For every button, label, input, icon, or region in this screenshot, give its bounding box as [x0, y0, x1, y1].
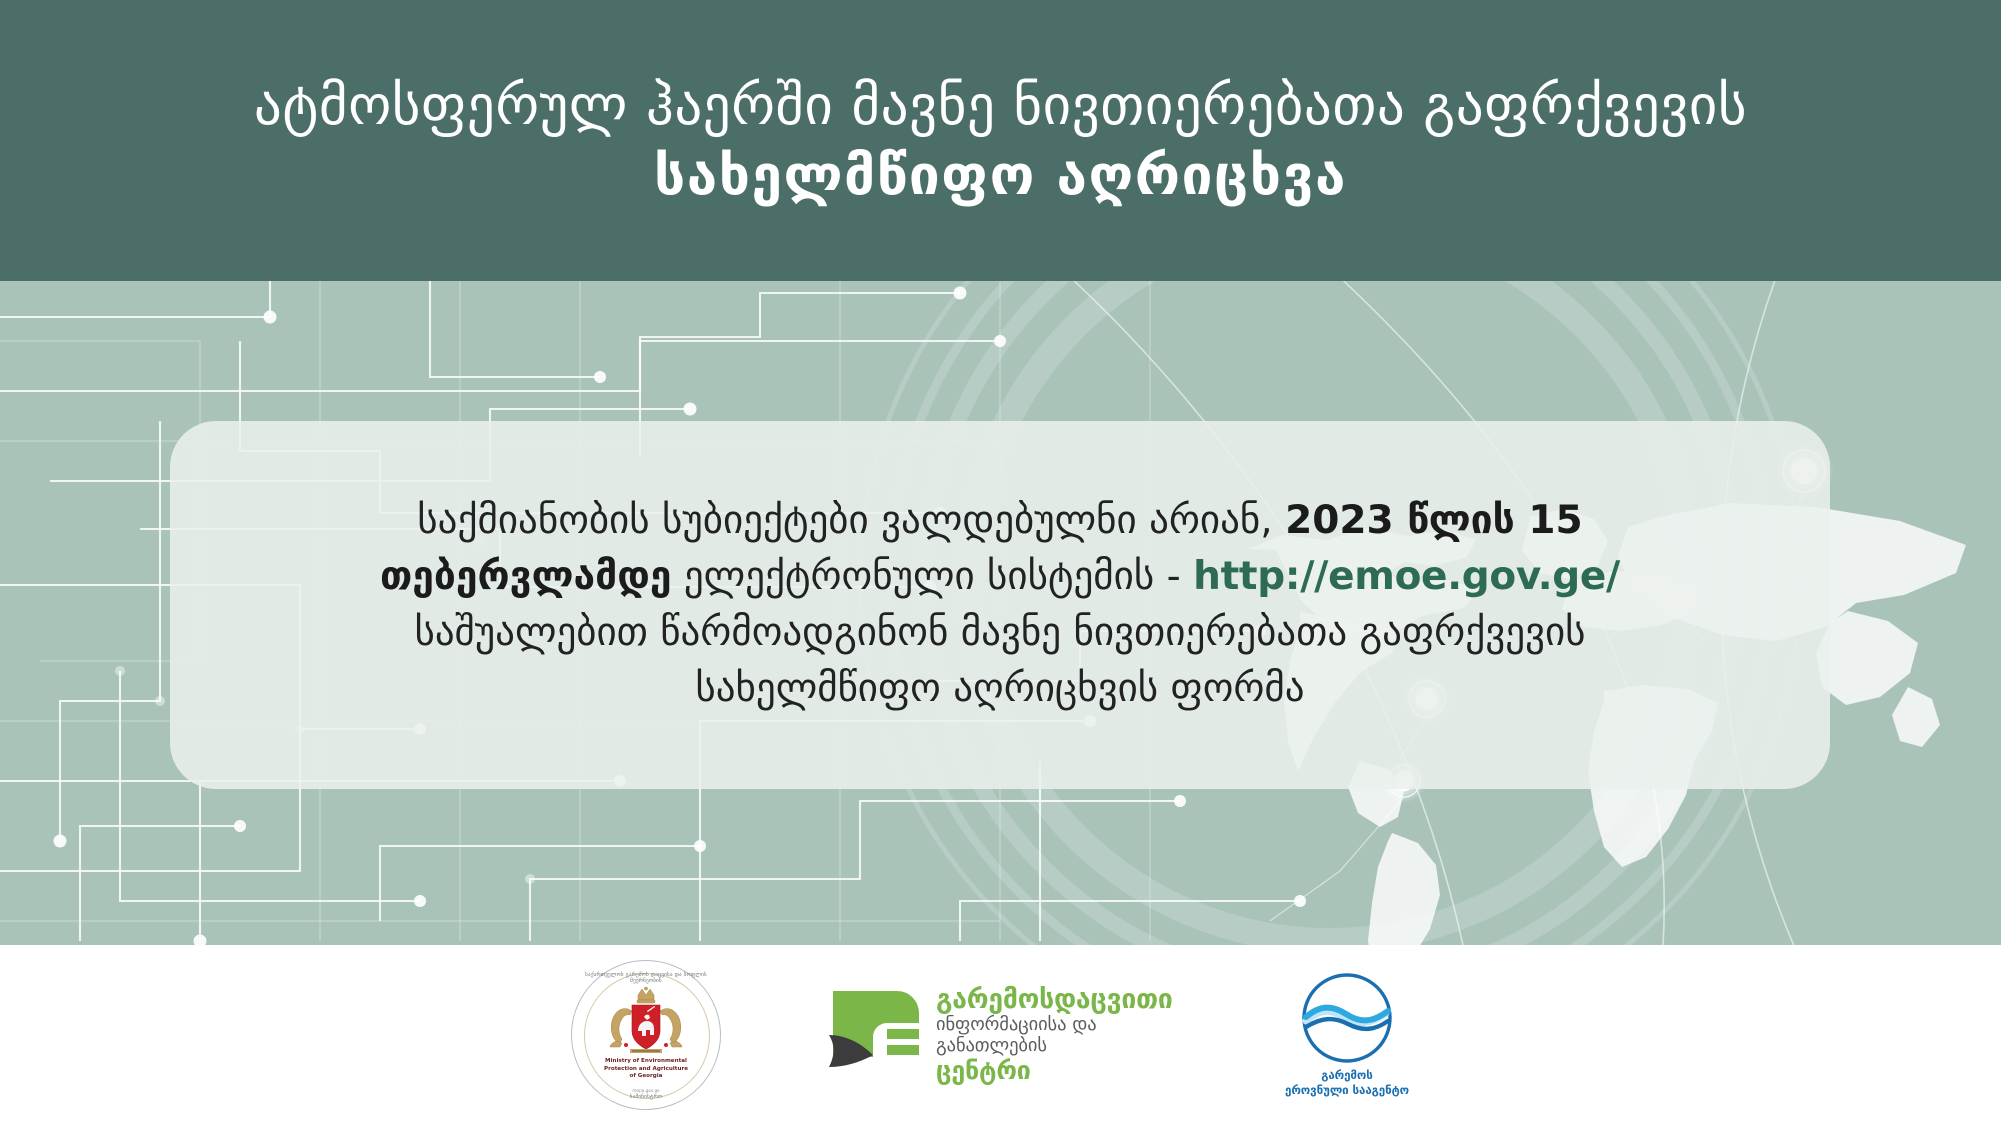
seal-georgian-bottom-text: სამინისტრო: [571, 1094, 721, 1100]
georgian-coat-of-arms-icon: [598, 987, 694, 1057]
announcement-line-4: სახელმწიფო აღრიცხვის ფორმა: [380, 661, 1620, 717]
announcement-line-2: თებერვლამდე ელექტრონული სისტემის - http:…: [380, 549, 1620, 605]
seal-english-line-2: Protection and Agriculture: [571, 1066, 721, 1074]
seal-english-text: Ministry of Environmental Protection and…: [571, 1058, 721, 1081]
eiec-line-3: ცენტრი: [936, 1058, 1173, 1084]
seal-georgian-top-text: საქართველოს გარემოს დაცვისა და სოფლის მე…: [571, 972, 721, 984]
seal-english-line-3: of Georgia: [571, 1073, 721, 1081]
banner-root: საქმიანობის სუბიექტები ვალდებულნი არიან,…: [0, 0, 2001, 1125]
seal-emblem: [571, 987, 721, 1061]
announcement-line-3: საშუალებით წარმოადგინონ მავნე ნივთიერება…: [380, 605, 1620, 661]
announcement-line-1-normal: საქმიანობის სუბიექტები ვალდებულნი არიან,: [417, 498, 1285, 543]
announcement-line-1: საქმიანობის სუბიექტები ვალდებულნი არიან,…: [380, 493, 1620, 549]
announcement-deadline-bold: თებერვლამდე: [380, 554, 671, 599]
eiec-emblem-icon: [825, 983, 925, 1083]
banner-title-line-1: ატმოსფერულ ჰაერში მავნე ნივთიერებათა გაფ…: [254, 76, 1747, 135]
announcement-line-1-bold: 2023 წლის 15: [1285, 498, 1583, 543]
nea-line-2: ეროვნული სააგენტო: [1285, 1083, 1409, 1098]
footer-logo-band: საქართველოს გარემოს დაცვისა და სოფლის მე…: [0, 945, 2001, 1125]
eiec-book-mark-icon: [825, 983, 925, 1087]
eiec-wordmark: გარემოსდაცვითი ინფორმაციისა და განათლები…: [936, 986, 1173, 1084]
announcement-card: საქმიანობის სუბიექტები ვალდებულნი არიან,…: [170, 421, 1830, 789]
eiec-line-2: ინფორმაციისა და განათლების: [936, 1015, 1173, 1056]
nea-wordmark: გარემოს ეროვნული სააგენტო: [1285, 1068, 1409, 1098]
ministry-logo[interactable]: საქართველოს გარემოს დაცვისა და სოფლის მე…: [571, 960, 721, 1110]
logo-row: საქართველოს გარემოს დაცვისა და სოფლის მე…: [0, 945, 2001, 1125]
announcement-line-2-normal: ელექტრონული სისტემის -: [671, 554, 1193, 599]
emoe-portal-link[interactable]: http://emoe.gov.ge/: [1193, 554, 1620, 599]
nea-wave-circle-icon: [1300, 971, 1394, 1065]
eiec-logo[interactable]: გარემოსდაცვითი ინფორმაციისა და განათლები…: [825, 979, 1160, 1091]
nea-line-1: გარემოს: [1285, 1068, 1409, 1083]
seal-website-url: mepa.gov.ge: [571, 1088, 721, 1093]
seal-english-line-1: Ministry of Environmental: [571, 1058, 721, 1066]
banner-title-line-2: სახელმწიფო აღრიცხვა: [654, 146, 1347, 205]
nea-logo[interactable]: გარემოს ეროვნული სააგენტო: [1264, 971, 1430, 1099]
announcement-text: საქმიანობის სუბიექტები ვალდებულნი არიან,…: [380, 493, 1620, 718]
banner-header: ატმოსფერულ ჰაერში მავნე ნივთიერებათა გაფ…: [0, 0, 2001, 281]
eiec-line-1: გარემოსდაცვითი: [936, 986, 1173, 1014]
